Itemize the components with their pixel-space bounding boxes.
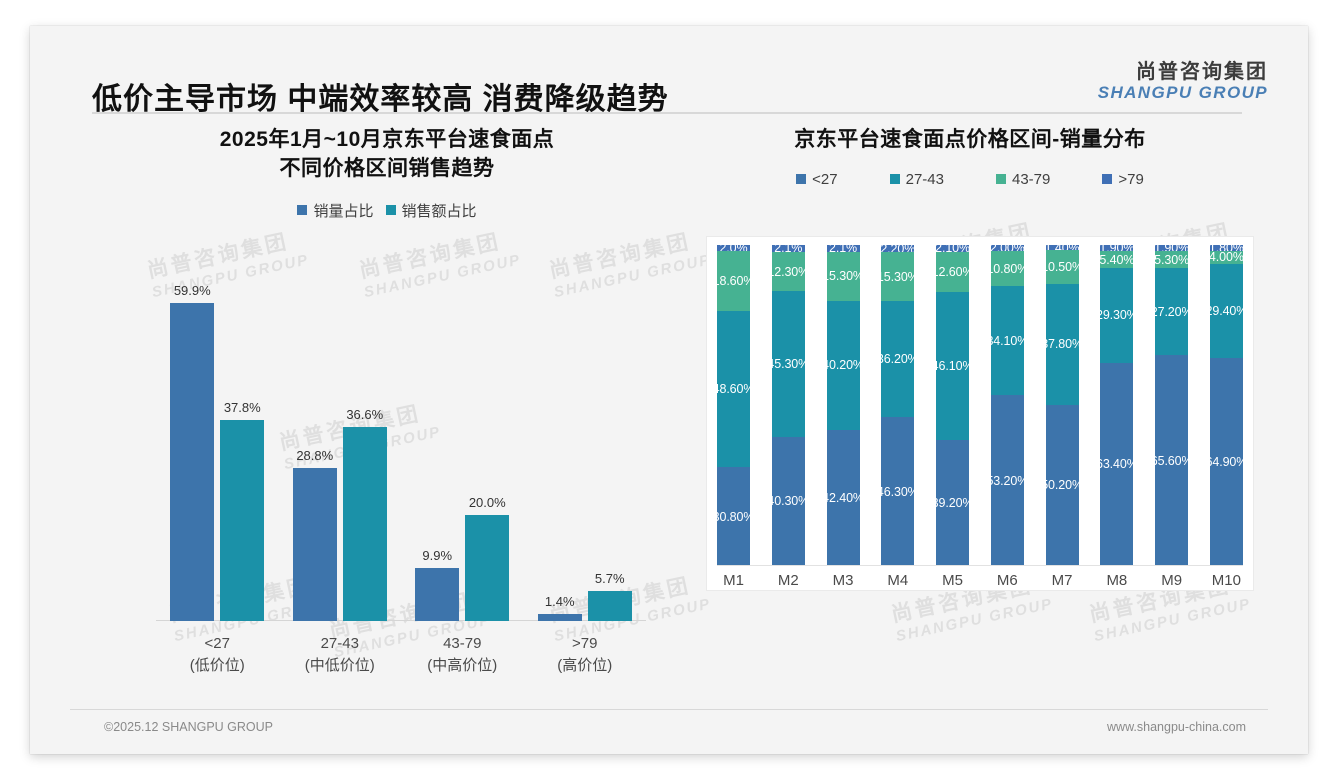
stacked-bar-segment[interactable]: 15.30% bbox=[881, 252, 914, 301]
stacked-bar-segment[interactable]: 2.10% bbox=[936, 245, 969, 252]
stacked-bar-segment[interactable]: 30.80% bbox=[717, 467, 750, 566]
stacked-segment-value-label: 15.30% bbox=[827, 269, 860, 283]
bar-group: 59.9%37.8%<27(低价位) bbox=[156, 276, 279, 621]
stacked-segment-value-label: 12.60% bbox=[936, 265, 969, 279]
stacked-segment-value-label: 64.90% bbox=[1210, 455, 1243, 469]
left-chart-title-line1: 2025年1月~10月京东平台速食面点 bbox=[92, 126, 682, 155]
stacked-bar-segment[interactable]: 10.50% bbox=[1046, 250, 1079, 284]
stacked-bar-segment[interactable]: 37.80% bbox=[1046, 284, 1079, 405]
stacked-segment-value-label: 27.20% bbox=[1155, 305, 1188, 319]
stacked-segment-value-label: 65.60% bbox=[1155, 454, 1188, 468]
bar-value-label: 28.8% bbox=[296, 448, 333, 463]
bar-column[interactable]: 28.8% bbox=[293, 468, 337, 621]
stacked-columns-container: 2.0%18.60%48.60%30.80%M12.1%12.30%45.30%… bbox=[717, 245, 1243, 566]
stacked-segment-value-label: 46.10% bbox=[936, 359, 969, 373]
stacked-segment-value-label: 18.60% bbox=[717, 274, 750, 288]
stacked-bar-segment[interactable]: 29.30% bbox=[1100, 268, 1133, 362]
legend-item-label: >79 bbox=[1118, 171, 1143, 188]
legend-swatch-icon bbox=[297, 205, 307, 215]
bar-group: 1.4%5.7%>79(高价位) bbox=[524, 276, 647, 621]
stacked-segment-value-label: 4.00% bbox=[1210, 251, 1243, 264]
bar-column[interactable]: 5.7% bbox=[588, 591, 632, 621]
x-axis-tick-label: M9 bbox=[1161, 572, 1182, 589]
stacked-bar-column[interactable]: 1.90%5.30%27.20%65.60%M9 bbox=[1155, 245, 1188, 566]
bar-rect[interactable] bbox=[293, 468, 337, 621]
bar-value-label: 1.4% bbox=[545, 594, 575, 609]
stacked-segment-value-label: 45.30% bbox=[772, 357, 805, 371]
stacked-bar-segment[interactable]: 12.60% bbox=[936, 252, 969, 292]
legend-swatch-icon bbox=[890, 174, 900, 184]
x-axis-tick-label: >79(高价位) bbox=[524, 633, 647, 677]
bar-value-label: 36.6% bbox=[346, 407, 383, 422]
legend-item[interactable]: <27 bbox=[796, 171, 837, 188]
bar-column[interactable]: 59.9% bbox=[170, 303, 214, 621]
stacked-bar-segment[interactable]: 63.40% bbox=[1100, 363, 1133, 567]
stacked-bar-column[interactable]: 2.0%18.60%48.60%30.80%M1 bbox=[717, 245, 750, 566]
x-axis-tick-label: 27-43(中低价位) bbox=[279, 633, 402, 677]
stacked-bar-segment[interactable]: 4.00% bbox=[1210, 251, 1243, 264]
stacked-bar-column[interactable]: 2.1%12.30%45.30%40.30%M2 bbox=[772, 245, 805, 566]
x-axis-tick-secondary: (中低价位) bbox=[279, 655, 402, 677]
stacked-bar-column[interactable]: 1.80%4.00%29.40%64.90%M10 bbox=[1210, 245, 1243, 566]
legend-item[interactable]: 43-79 bbox=[996, 171, 1050, 188]
legend-item-label: 43-79 bbox=[1012, 171, 1050, 188]
stacked-bar-segment[interactable]: 46.10% bbox=[936, 292, 969, 440]
slide-canvas: 低价主导市场 中端效率较高 消费降级趋势 尚普咨询集团 SHANGPU GROU… bbox=[30, 26, 1308, 754]
footer-copyright: ©2025.12 SHANGPU GROUP bbox=[104, 720, 273, 734]
stacked-segment-value-label: 34.10% bbox=[991, 334, 1024, 348]
bar-rect[interactable] bbox=[538, 614, 582, 621]
stacked-bar-chart-plot: 2.0%18.60%48.60%30.80%M12.1%12.30%45.30%… bbox=[706, 236, 1254, 591]
stacked-bar-segment[interactable]: 12.30% bbox=[772, 252, 805, 291]
x-axis-tick-primary: <27 bbox=[156, 633, 279, 655]
stacked-bar-column[interactable]: 2.00%10.80%34.10%53.20%M6 bbox=[991, 245, 1024, 566]
right-chart-legend: <2727-4343-79>79 bbox=[690, 171, 1250, 188]
x-axis-tick-label: 43-79(中高价位) bbox=[401, 633, 524, 677]
legend-swatch-icon bbox=[796, 174, 806, 184]
stacked-segment-value-label: 36.20% bbox=[881, 352, 914, 366]
stacked-segment-value-label: 5.40% bbox=[1100, 253, 1133, 267]
x-axis-tick-primary: 43-79 bbox=[401, 633, 524, 655]
footer-website: www.shangpu-china.com bbox=[1107, 720, 1246, 734]
stacked-segment-value-label: 30.80% bbox=[717, 510, 750, 524]
stacked-segment-value-label: 29.30% bbox=[1100, 308, 1133, 322]
legend-item-label: 27-43 bbox=[906, 171, 944, 188]
bar-value-label: 59.9% bbox=[174, 283, 211, 298]
x-axis-tick-label: M7 bbox=[1052, 572, 1073, 589]
bar-group: 9.9%20.0%43-79(中高价位) bbox=[401, 276, 524, 621]
stacked-segment-value-label: 15.30% bbox=[881, 270, 914, 284]
stacked-segment-value-label: 10.80% bbox=[991, 262, 1024, 276]
legend-item-label: 销量占比 bbox=[313, 200, 373, 221]
right-chart-title-line1: 京东平台速食面点价格区间-销量分布 bbox=[690, 126, 1250, 155]
stacked-bar-segment[interactable]: 27.20% bbox=[1155, 268, 1188, 355]
stacked-bar-segment[interactable]: 40.20% bbox=[827, 301, 860, 430]
bar-rect[interactable] bbox=[465, 515, 509, 621]
stacked-segment-value-label: 42.40% bbox=[827, 491, 860, 505]
x-axis-tick-label: <27(低价位) bbox=[156, 633, 279, 677]
stacked-bar-segment[interactable]: 39.20% bbox=[936, 440, 969, 566]
bar-column[interactable]: 36.6% bbox=[343, 427, 387, 621]
bar-rect[interactable] bbox=[588, 591, 632, 621]
x-axis-tick-secondary: (高价位) bbox=[524, 655, 647, 677]
stacked-segment-value-label: 50.20% bbox=[1046, 478, 1079, 492]
stacked-bar-column[interactable]: 1.90%5.40%29.30%63.40%M8 bbox=[1100, 245, 1133, 566]
stacked-bar-segment[interactable]: 46.30% bbox=[881, 417, 914, 566]
bar-value-label: 20.0% bbox=[469, 495, 506, 510]
stacked-segment-value-label: 29.40% bbox=[1210, 304, 1243, 318]
bar-value-label: 5.7% bbox=[595, 571, 625, 586]
legend-swatch-icon bbox=[1102, 174, 1112, 184]
stacked-bar-segment[interactable]: 64.90% bbox=[1210, 358, 1243, 566]
stacked-bar-segment[interactable]: 42.40% bbox=[827, 430, 860, 566]
stacked-segment-value-label: 63.40% bbox=[1100, 457, 1133, 471]
stacked-bar-segment[interactable]: 40.30% bbox=[772, 437, 805, 566]
stacked-segment-value-label: 10.50% bbox=[1046, 260, 1079, 274]
bar-column[interactable]: 9.9% bbox=[415, 568, 459, 621]
x-axis-tick-secondary: (低价位) bbox=[156, 655, 279, 677]
bar-group: 28.8%36.6%27-43(中低价位) bbox=[279, 276, 402, 621]
right-chart-panel: 京东平台速食面点价格区间-销量分布 <2727-4343-79>79 2.0%1… bbox=[690, 126, 1250, 716]
footer-divider bbox=[70, 709, 1268, 710]
stacked-segment-value-label: 48.60% bbox=[717, 382, 750, 396]
logo-chinese-text: 尚普咨询集团 bbox=[1098, 62, 1268, 83]
stacked-segment-value-label: 46.30% bbox=[881, 485, 914, 499]
stacked-segment-value-label: 37.80% bbox=[1046, 337, 1079, 351]
legend-item[interactable]: 27-43 bbox=[890, 171, 944, 188]
stacked-bar-segment[interactable]: 53.20% bbox=[991, 395, 1024, 566]
stacked-bar-segment[interactable]: 65.60% bbox=[1155, 355, 1188, 566]
bar-column[interactable]: 37.8% bbox=[220, 420, 264, 621]
left-chart-legend: 销量占比销售额占比 bbox=[92, 200, 682, 221]
x-axis-tick-label: M1 bbox=[723, 572, 744, 589]
bar-rect[interactable] bbox=[220, 420, 264, 621]
stacked-segment-value-label: 53.20% bbox=[991, 474, 1024, 488]
left-chart-title: 2025年1月~10月京东平台速食面点 不同价格区间销售趋势 bbox=[92, 126, 682, 184]
stacked-bar-segment[interactable]: 34.10% bbox=[991, 286, 1024, 395]
bar-rect[interactable] bbox=[170, 303, 214, 621]
legend-item-label: 销售额占比 bbox=[402, 200, 477, 221]
x-axis-tick-label: M10 bbox=[1212, 572, 1241, 589]
bar-rect[interactable] bbox=[343, 427, 387, 621]
legend-item[interactable]: >79 bbox=[1102, 171, 1143, 188]
stacked-bar-column[interactable]: 2.10%12.60%46.10%39.20%M5 bbox=[936, 245, 969, 566]
x-axis-tick-label: M2 bbox=[778, 572, 799, 589]
right-chart-title: 京东平台速食面点价格区间-销量分布 bbox=[690, 126, 1250, 155]
stacked-bar-segment[interactable]: 2.20% bbox=[881, 245, 914, 252]
stacked-bar-segment[interactable]: 5.40% bbox=[1100, 251, 1133, 268]
x-axis-tick-label: M8 bbox=[1106, 572, 1127, 589]
stacked-bar-segment[interactable]: 36.20% bbox=[881, 301, 914, 417]
x-axis-tick-label: M4 bbox=[887, 572, 908, 589]
right-chart-baseline bbox=[717, 565, 1243, 566]
bar-column[interactable]: 20.0% bbox=[465, 515, 509, 621]
stacked-bar-segment[interactable]: 2.1% bbox=[827, 245, 860, 252]
stacked-bar-segment[interactable]: 45.30% bbox=[772, 291, 805, 436]
stacked-bar-column[interactable]: 1.40%10.50%37.80%50.20%M7 bbox=[1046, 245, 1079, 566]
bar-value-label: 37.8% bbox=[224, 400, 261, 415]
stacked-segment-value-label: 2.1% bbox=[774, 245, 802, 252]
legend-swatch-icon bbox=[386, 205, 396, 215]
stacked-bar-segment[interactable]: 15.30% bbox=[827, 252, 860, 301]
x-axis-tick-primary: 27-43 bbox=[279, 633, 402, 655]
stacked-bar-segment[interactable]: 10.80% bbox=[991, 251, 1024, 286]
brand-logo: 尚普咨询集团 SHANGPU GROUP bbox=[1098, 62, 1268, 102]
bar-column[interactable]: 1.4% bbox=[538, 614, 582, 621]
slide-header: 低价主导市场 中端效率较高 消费降级趋势 尚普咨询集团 SHANGPU GROU… bbox=[30, 26, 1308, 114]
stacked-bar-segment[interactable]: 18.60% bbox=[717, 251, 750, 311]
left-chart-panel: 2025年1月~10月京东平台速食面点 不同价格区间销售趋势 销量占比销售额占比… bbox=[92, 126, 682, 716]
stacked-segment-value-label: 39.20% bbox=[936, 496, 969, 510]
left-chart-title-line2: 不同价格区间销售趋势 bbox=[92, 155, 682, 184]
legend-swatch-icon bbox=[996, 174, 1006, 184]
bar-value-label: 9.9% bbox=[422, 548, 452, 563]
legend-item[interactable]: 销量占比 bbox=[297, 200, 373, 221]
stacked-segment-value-label: 2.1% bbox=[829, 245, 857, 252]
x-axis-tick-primary: >79 bbox=[524, 633, 647, 655]
x-axis-tick-label: M5 bbox=[942, 572, 963, 589]
stacked-bar-column[interactable]: 2.1%15.30%40.20%42.40%M3 bbox=[827, 245, 860, 566]
stacked-bar-segment[interactable]: 48.60% bbox=[717, 311, 750, 467]
stacked-segment-value-label: 40.20% bbox=[827, 358, 860, 372]
grouped-bar-chart-plot: 59.9%37.8%<27(低价位)28.8%36.6%27-43(中低价位)9… bbox=[156, 276, 646, 621]
legend-item-label: <27 bbox=[812, 171, 837, 188]
legend-item[interactable]: 销售额占比 bbox=[386, 200, 477, 221]
x-axis-tick-secondary: (中高价位) bbox=[401, 655, 524, 677]
stacked-bar-segment[interactable]: 50.20% bbox=[1046, 405, 1079, 566]
stacked-bar-segment[interactable]: 5.30% bbox=[1155, 251, 1188, 268]
x-axis-tick-label: M6 bbox=[997, 572, 1018, 589]
stacked-segment-value-label: 12.30% bbox=[772, 265, 805, 279]
stacked-bar-segment[interactable]: 2.1% bbox=[772, 245, 805, 252]
logo-english-text: SHANGPU GROUP bbox=[1098, 84, 1268, 102]
stacked-bar-column[interactable]: 2.20%15.30%36.20%46.30%M4 bbox=[881, 245, 914, 566]
x-axis-tick-label: M3 bbox=[833, 572, 854, 589]
stacked-segment-value-label: 2.20% bbox=[881, 245, 914, 252]
stacked-segment-value-label: 40.30% bbox=[772, 494, 805, 508]
stacked-segment-value-label: 2.10% bbox=[936, 245, 969, 252]
header-divider bbox=[92, 112, 1242, 114]
stacked-segment-value-label: 5.30% bbox=[1155, 253, 1188, 267]
stacked-bar-segment[interactable]: 29.40% bbox=[1210, 264, 1243, 358]
bar-rect[interactable] bbox=[415, 568, 459, 621]
